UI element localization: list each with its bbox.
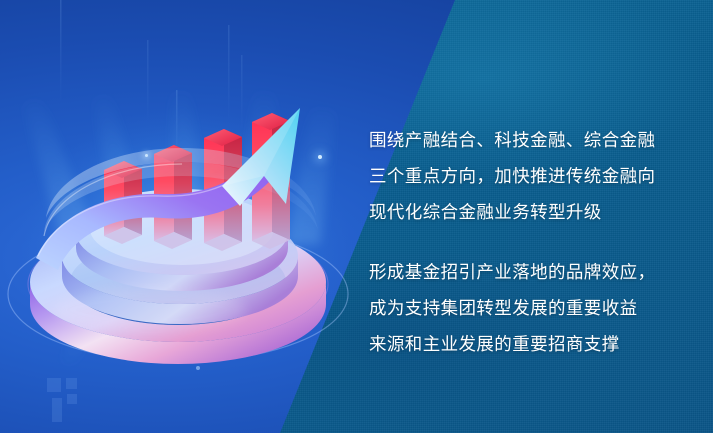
- paragraph-brand-effect: 形成基金招引产业落地的品牌效应， 成为支持集团转型发展的重要收益 来源和主业发展…: [369, 254, 684, 362]
- growth-chart-illustration: [0, 86, 370, 386]
- decor-square: [52, 398, 62, 422]
- paragraph-focus-directions: 围绕产融结合、科技金融、综合金融 三个重点方向，加快推进传统金融向 现代化综合金…: [369, 122, 684, 230]
- copy-block: 围绕产融结合、科技金融、综合金融 三个重点方向，加快推进传统金融向 现代化综合金…: [369, 104, 684, 379]
- decor-square: [67, 394, 77, 404]
- promo-banner: 围绕产融结合、科技金融、综合金融 三个重点方向，加快推进传统金融向 现代化综合金…: [0, 0, 713, 433]
